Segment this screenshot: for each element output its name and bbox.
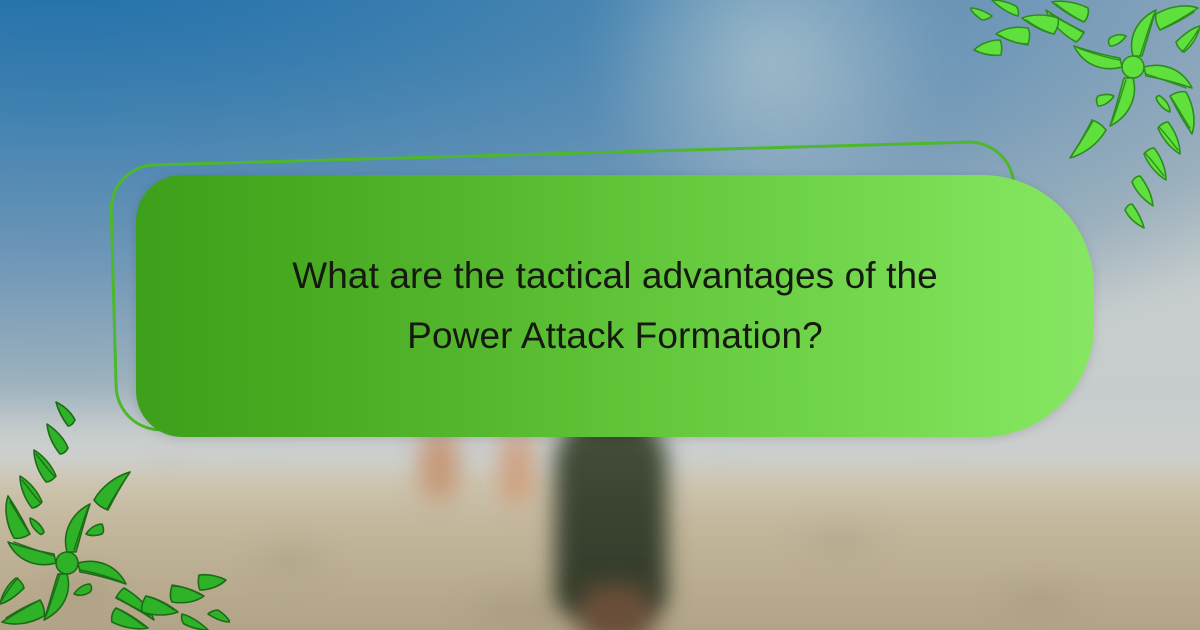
background-figure-legs	[580, 585, 652, 630]
background-figure-arm-left	[420, 430, 458, 500]
question-text: What are the tactical advantages of the …	[197, 246, 1033, 366]
screenshot-canvas: What are the tactical advantages of the …	[0, 0, 1200, 630]
question-card: What are the tactical advantages of the …	[136, 175, 1094, 437]
background-figure-arm-right	[500, 432, 534, 504]
